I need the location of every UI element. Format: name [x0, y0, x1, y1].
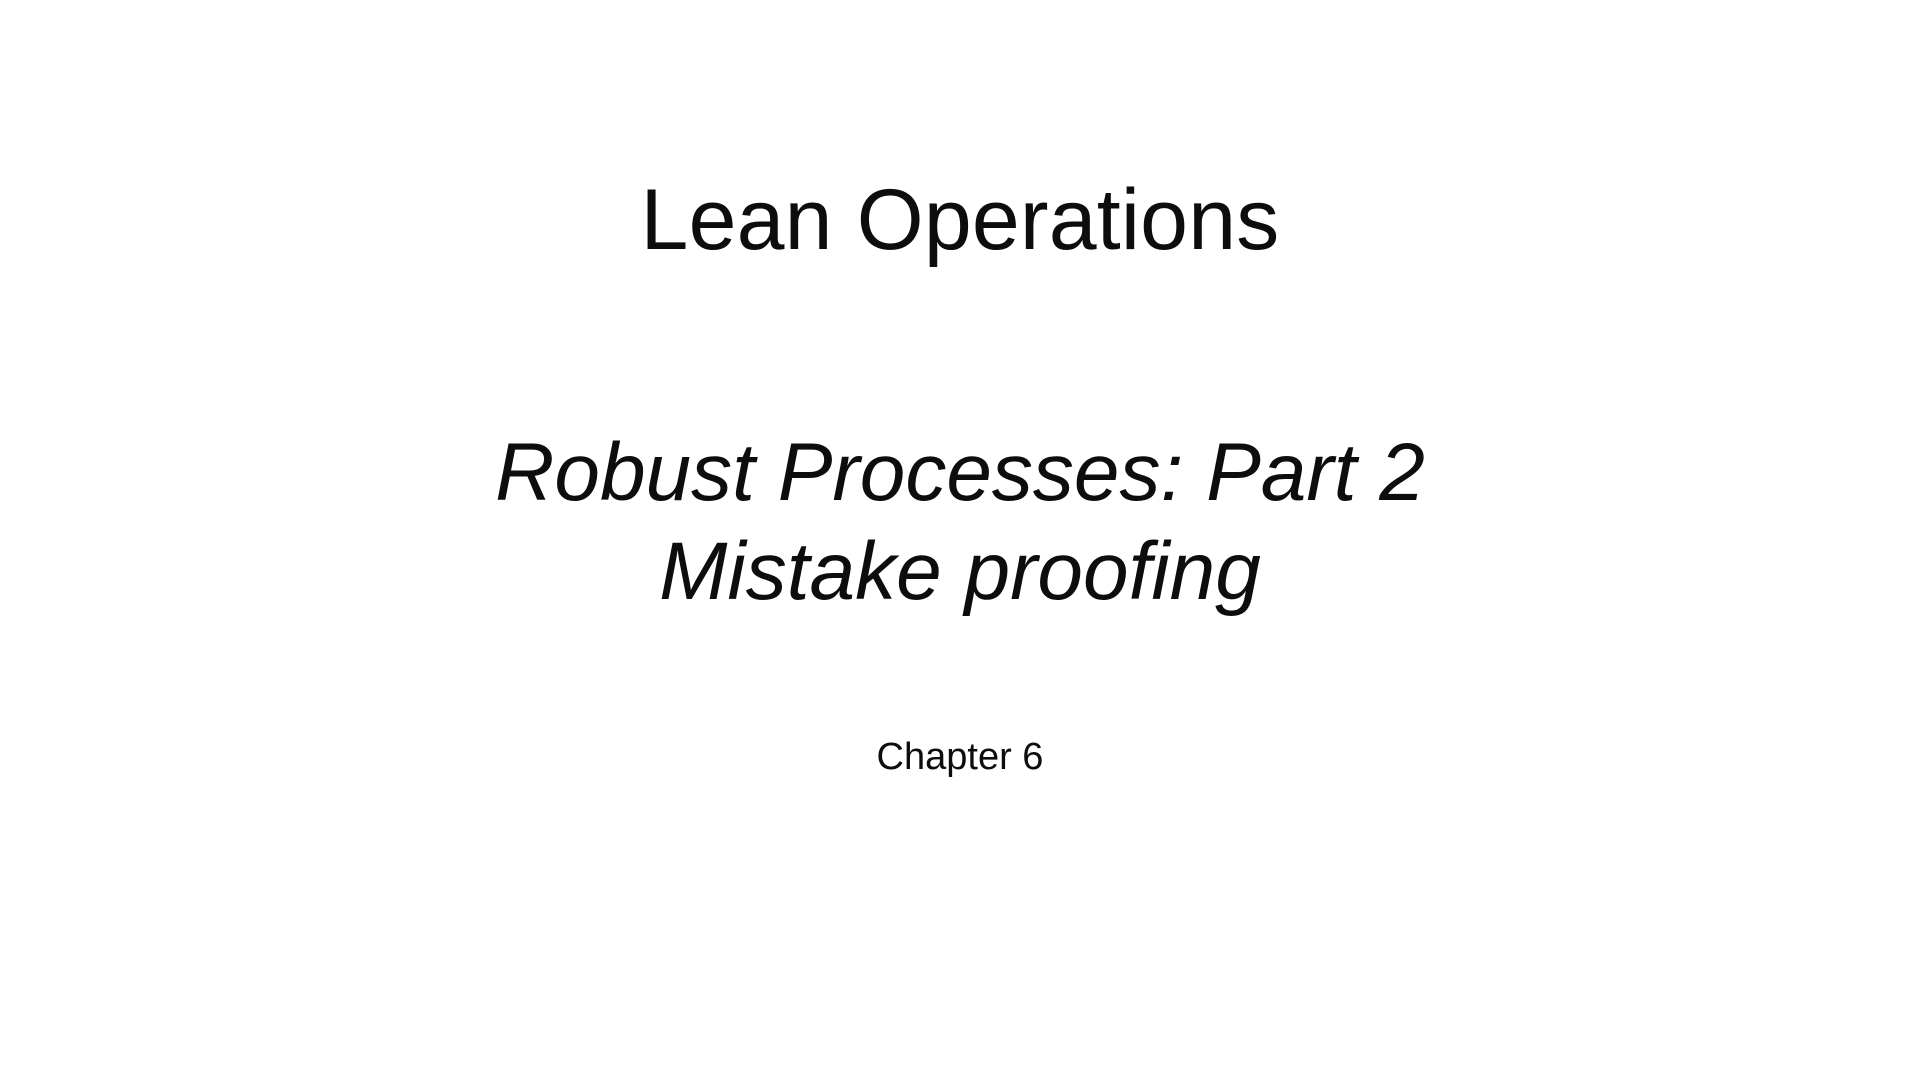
subtitle-line-two: Mistake proofing [0, 524, 1920, 621]
presentation-slide: Lean Operations Robust Processes: Part 2… [0, 0, 1920, 1080]
title-block: Lean Operations [0, 175, 1920, 265]
chapter-block: Chapter 6 [0, 735, 1920, 781]
subtitle-block: Robust Processes: Part 2 Mistake proofin… [0, 425, 1920, 621]
slide-content-area: Lean Operations Robust Processes: Part 2… [0, 0, 1920, 1080]
subtitle-line-one: Robust Processes: Part 2 [0, 425, 1920, 522]
page-title: Lean Operations [0, 175, 1920, 265]
chapter-label: Chapter 6 [0, 735, 1920, 781]
